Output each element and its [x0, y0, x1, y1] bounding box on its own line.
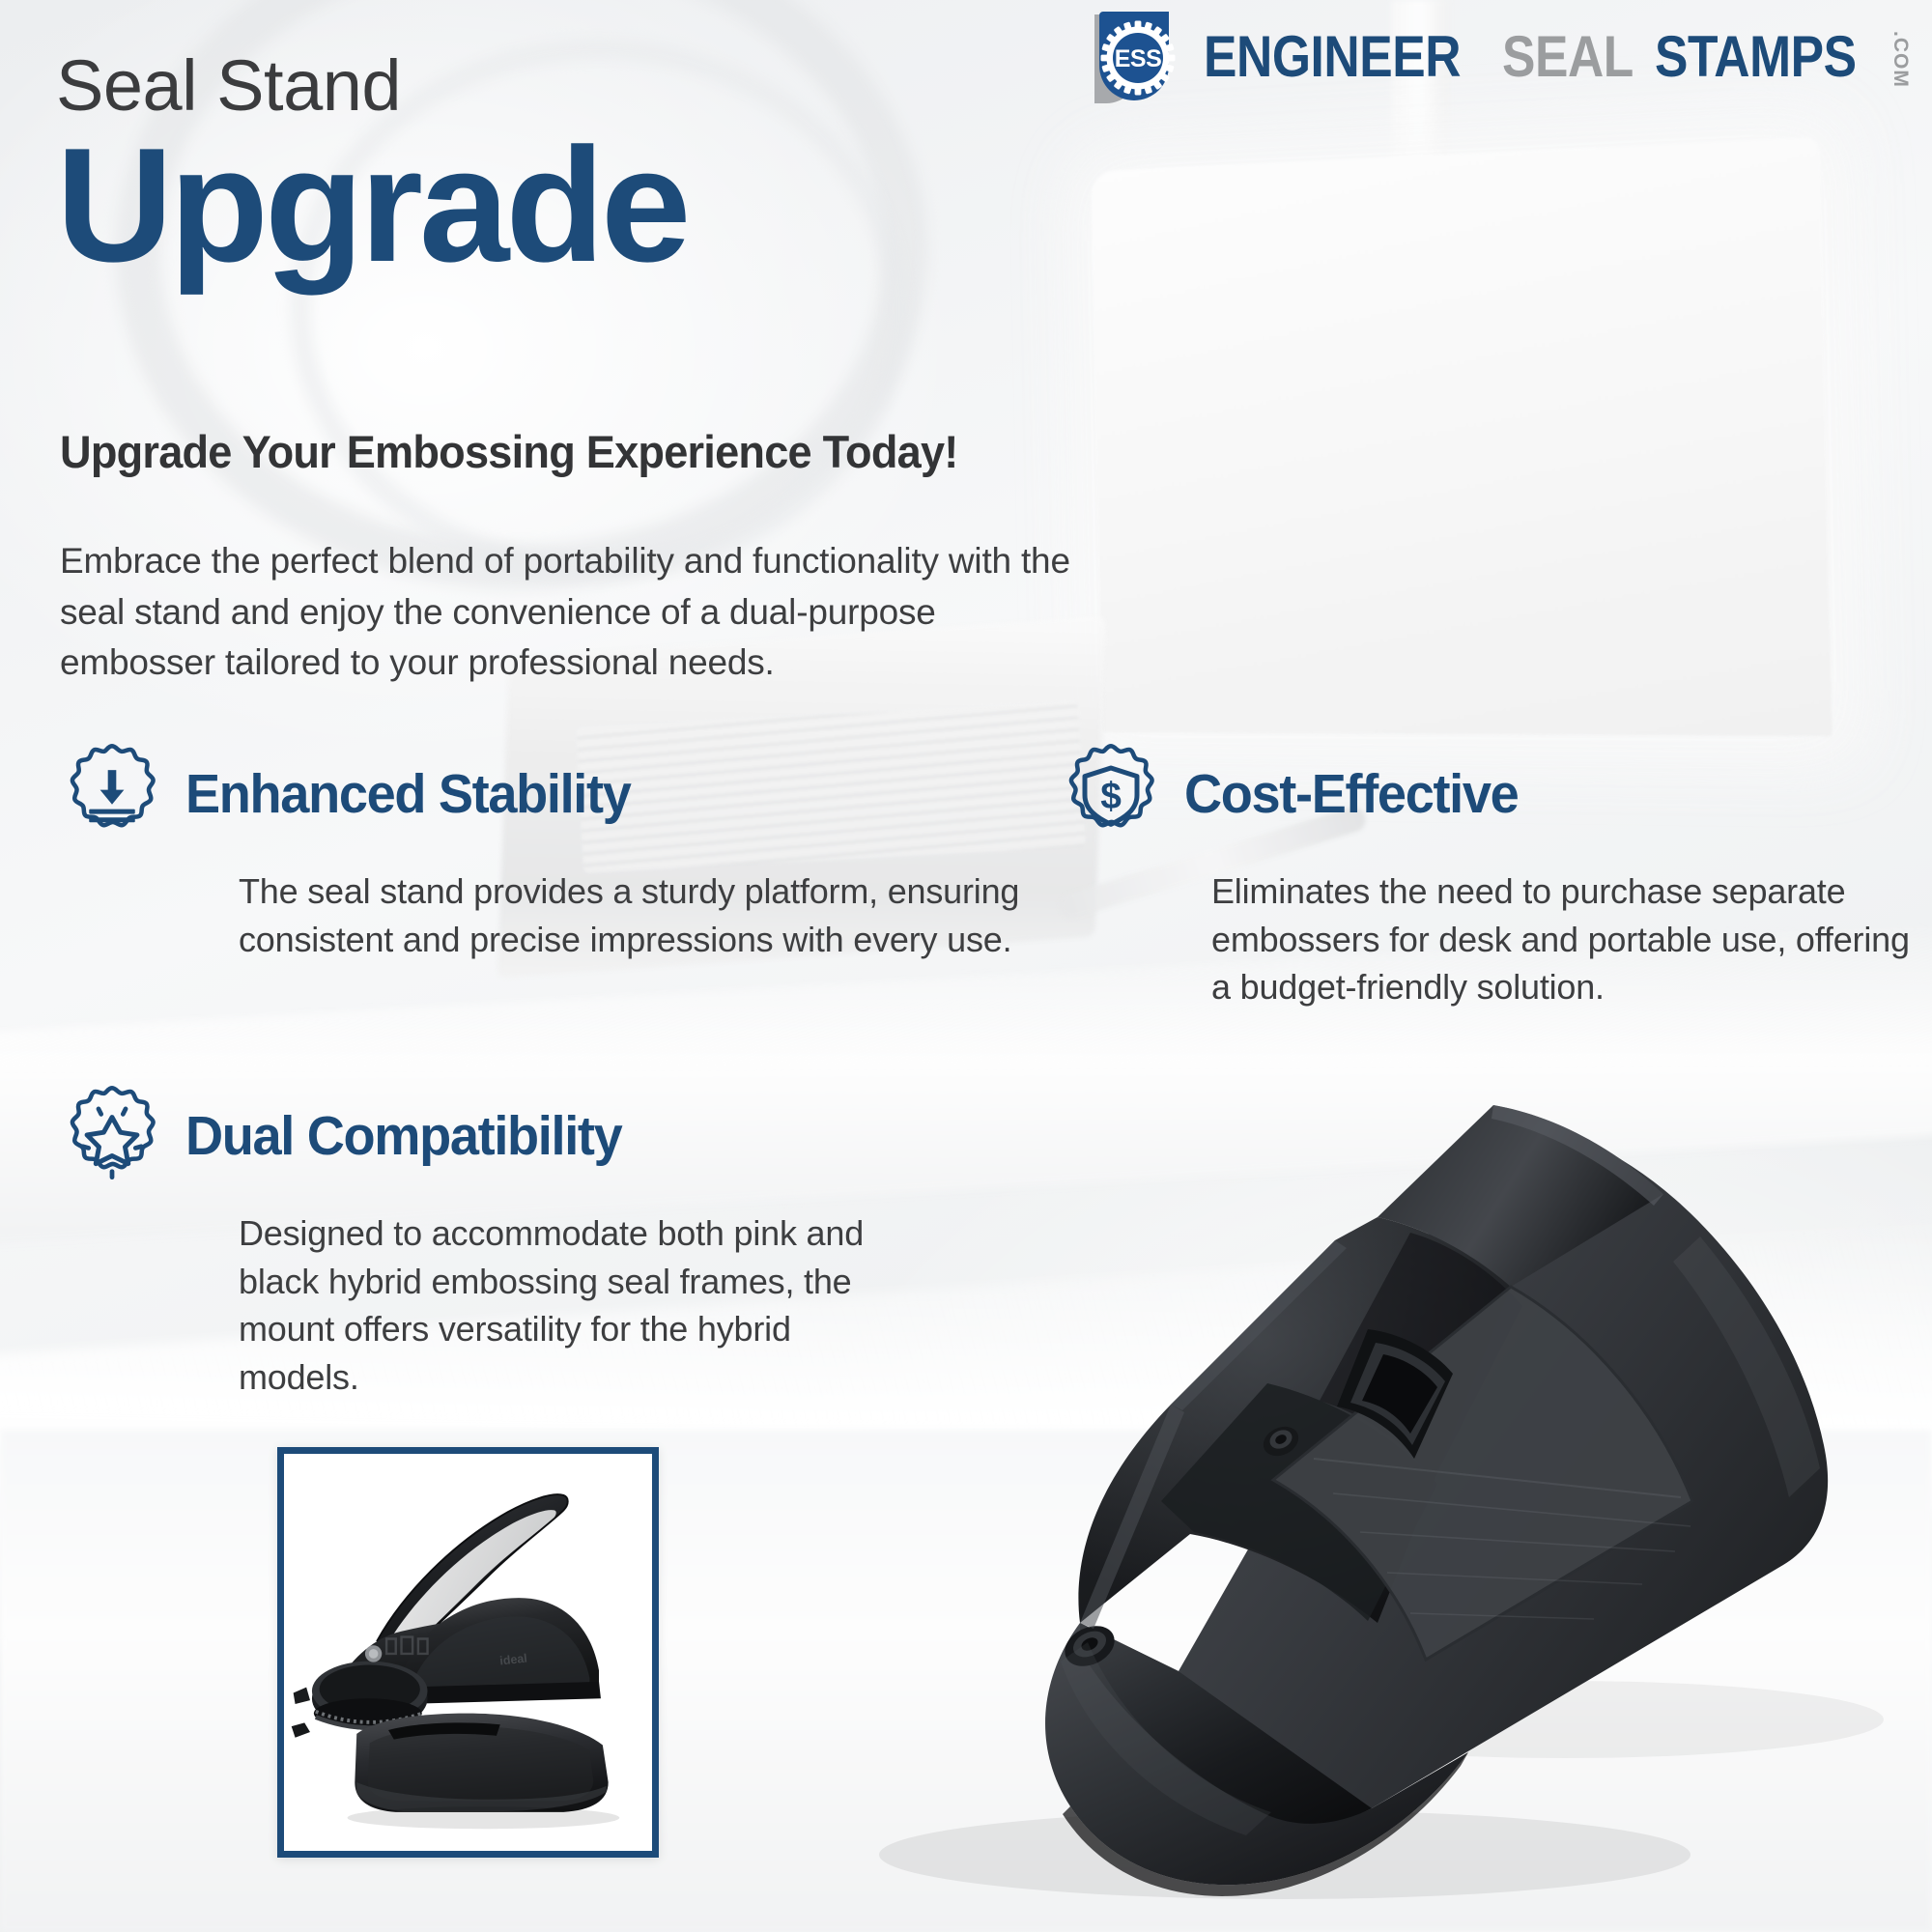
brand-word-stamps: STAMPS	[1655, 28, 1857, 86]
background-laptop	[1091, 137, 1833, 736]
feature-enhanced-stability: Enhanced Stability The seal stand provid…	[60, 742, 1045, 963]
feature-dual-compatibility: Dual Compatibility Designed to accommoda…	[60, 1084, 968, 1402]
page-title: Upgrade	[56, 124, 687, 286]
feature-text: Eliminates the need to purchase separate…	[1211, 867, 1917, 1011]
feature-title: Dual Compatibility	[185, 1104, 621, 1168]
svg-text:$: $	[1100, 776, 1122, 817]
brand-word-engineer: ENGINEER	[1204, 28, 1461, 86]
brand-wordmark: ENGINEER SEAL STAMPS .COM	[1204, 28, 1911, 88]
feature-header: Enhanced Stability	[60, 742, 1045, 846]
feature-text: Designed to accommodate both pink and bl…	[239, 1209, 905, 1402]
brand-logo[interactable]: ESS ENGINEER SEAL STAMPS .COM	[1090, 8, 1911, 108]
svg-text:ESS: ESS	[1115, 45, 1162, 72]
inset-product-photo: ideal	[277, 1447, 659, 1858]
feature-title: Cost-Effective	[1184, 762, 1518, 826]
svg-text:ideal: ideal	[499, 1652, 528, 1668]
brand-word-seal: SEAL	[1502, 28, 1634, 86]
intro-paragraph: Embrace the perfect blend of portability…	[60, 536, 1079, 689]
download-press-badge-icon	[60, 742, 164, 846]
brand-tld: .COM	[1890, 31, 1911, 88]
feature-text: The seal stand provides a sturdy platfor…	[239, 867, 1065, 963]
feature-header: $ Cost-Effective	[1059, 742, 1909, 846]
feature-title: Enhanced Stability	[185, 762, 631, 826]
ess-gear-shield-icon: ESS	[1090, 8, 1190, 108]
star-sparkle-badge-icon	[60, 1084, 164, 1188]
feature-cost-effective: $ Cost-Effective Eliminates the need to …	[1059, 742, 1909, 1011]
subheading: Upgrade Your Embossing Experience Today!	[60, 425, 958, 478]
feature-header: Dual Compatibility	[60, 1084, 968, 1188]
shield-dollar-badge-icon: $	[1059, 742, 1163, 846]
